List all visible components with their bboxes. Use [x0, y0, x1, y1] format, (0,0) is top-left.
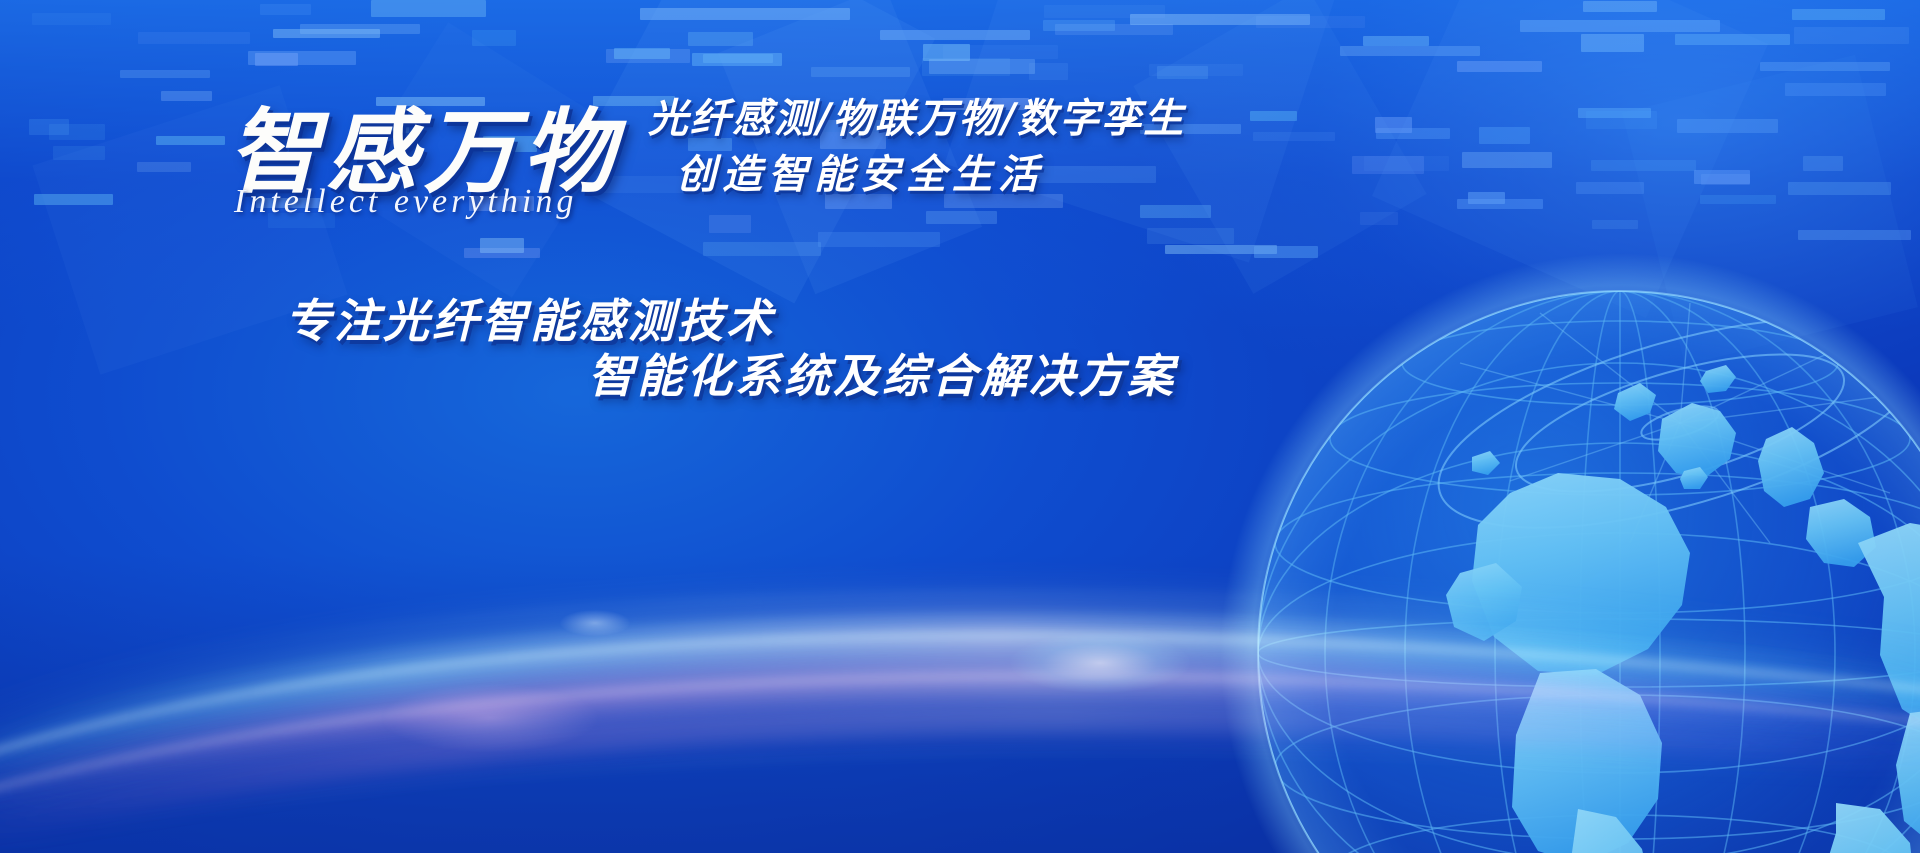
banner-root: 智感万物 Intellect everything 光纤感测/物联万物/数字孪生… — [0, 0, 1920, 853]
light-streak-graphic — [0, 433, 1920, 853]
feature-line-two: 智能化系统及综合解决方案 — [588, 340, 1176, 406]
tagline-secondary: 创造智能安全生活 — [676, 142, 1044, 200]
tagline-primary: 光纤感测/物联万物/数字孪生 — [648, 86, 1185, 144]
page-subtitle-english: Intellect everything — [234, 183, 577, 221]
